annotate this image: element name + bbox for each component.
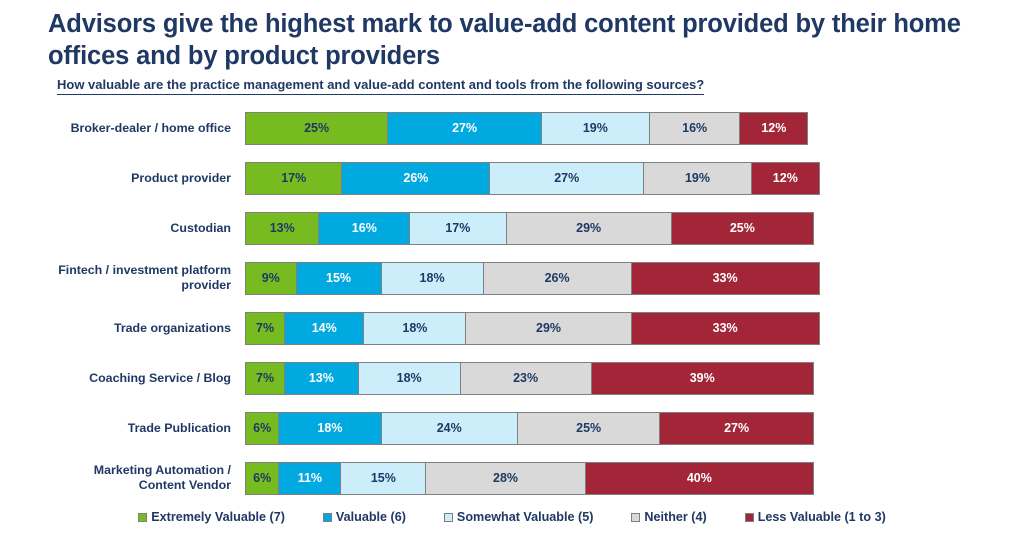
bar-segment: 24% — [381, 412, 519, 445]
legend-swatch-icon — [745, 513, 754, 522]
legend-label: Valuable (6) — [336, 510, 406, 524]
bar-segment-value: 33% — [713, 321, 738, 335]
bar-segment: 18% — [278, 412, 381, 445]
bar-segment: 18% — [381, 262, 484, 295]
bar-segment-value: 18% — [420, 271, 445, 285]
chart-row: Trade organizations7%14%18%29%33% — [0, 303, 1024, 353]
chart-plot-area: Broker-dealer / home office25%27%19%16%1… — [0, 103, 1024, 503]
bar-segment: 16% — [649, 112, 741, 145]
category-label: Trade Publication — [48, 421, 238, 436]
bar-segment: 18% — [358, 362, 461, 395]
bar-segment-value: 12% — [761, 121, 786, 135]
bar-segment-value: 39% — [690, 371, 715, 385]
bar-segment: 13% — [284, 362, 358, 395]
bar-segment-value: 29% — [576, 221, 601, 235]
chart-question-subtitle: How valuable are the practice management… — [57, 77, 704, 95]
bar-segment-value: 26% — [545, 271, 570, 285]
bar-segment: 27% — [659, 412, 814, 445]
bar-segment: 18% — [363, 312, 466, 345]
bar-segment-value: 7% — [256, 321, 274, 335]
category-label: Coaching Service / Blog — [48, 371, 238, 386]
bar-segment-value: 40% — [687, 471, 712, 485]
bar-segment-value: 29% — [536, 321, 561, 335]
bar-segment-value: 23% — [513, 371, 538, 385]
bar-segment-value: 16% — [352, 221, 377, 235]
legend-label: Neither (4) — [644, 510, 706, 524]
category-label: Fintech / investment platform provider — [48, 263, 238, 292]
bar-segment-value: 18% — [317, 421, 342, 435]
legend-swatch-icon — [631, 513, 640, 522]
subtitle-block: How valuable are the practice management… — [57, 76, 967, 95]
legend-label: Less Valuable (1 to 3) — [758, 510, 886, 524]
bar-segment-value: 25% — [576, 421, 601, 435]
bar-segment: 27% — [489, 162, 644, 195]
category-label: Trade organizations — [48, 321, 238, 336]
bar-segment-value: 33% — [713, 271, 738, 285]
stacked-bar: 7%13%18%23%39% — [245, 362, 814, 395]
bar-segment: 33% — [631, 262, 820, 295]
bar-segment: 39% — [591, 362, 814, 395]
bar-segment-value: 15% — [326, 271, 351, 285]
legend-item[interactable]: Valuable (6) — [323, 510, 406, 524]
bar-segment: 15% — [296, 262, 382, 295]
bar-segment-value: 16% — [682, 121, 707, 135]
bar-segment: 17% — [245, 162, 342, 195]
bar-segment-value: 27% — [554, 171, 579, 185]
bar-segment: 23% — [460, 362, 592, 395]
bar-segment: 29% — [465, 312, 631, 345]
bar-segment-value: 25% — [304, 121, 329, 135]
bar-segment-value: 7% — [256, 371, 274, 385]
bar-segment-value: 14% — [312, 321, 337, 335]
category-label: Custodian — [48, 221, 238, 236]
chart-row: Custodian13%16%17%29%25% — [0, 203, 1024, 253]
stacked-bar: 6%18%24%25%27% — [245, 412, 814, 445]
bar-segment-value: 12% — [773, 171, 798, 185]
legend-item[interactable]: Neither (4) — [631, 510, 706, 524]
bar-segment-value: 28% — [493, 471, 518, 485]
legend-item[interactable]: Less Valuable (1 to 3) — [745, 510, 886, 524]
bar-segment: 25% — [671, 212, 814, 245]
bar-segment: 40% — [585, 462, 814, 495]
legend-swatch-icon — [444, 513, 453, 522]
bar-segment: 13% — [245, 212, 319, 245]
bar-segment-value: 24% — [437, 421, 462, 435]
bar-segment: 19% — [541, 112, 650, 145]
bar-segment: 27% — [387, 112, 542, 145]
bar-segment: 17% — [409, 212, 506, 245]
bar-segment-value: 13% — [270, 221, 295, 235]
bar-segment-value: 25% — [730, 221, 755, 235]
chart-row: Marketing Automation / Content Vendor6%1… — [0, 453, 1024, 503]
bar-segment: 29% — [506, 212, 672, 245]
bar-segment: 6% — [245, 412, 279, 445]
bar-segment: 11% — [278, 462, 341, 495]
bar-segment-value: 6% — [253, 471, 271, 485]
chart-row: Fintech / investment platform provider9%… — [0, 253, 1024, 303]
chart-row: Broker-dealer / home office25%27%19%16%1… — [0, 103, 1024, 153]
bar-segment-value: 18% — [402, 321, 427, 335]
bar-segment: 33% — [631, 312, 820, 345]
bar-segment-value: 19% — [583, 121, 608, 135]
bar-segment: 25% — [517, 412, 660, 445]
bar-segment-value: 11% — [298, 471, 322, 485]
legend-swatch-icon — [323, 513, 332, 522]
bar-segment: 16% — [318, 212, 410, 245]
bar-segment-value: 9% — [262, 271, 280, 285]
bar-segment: 25% — [245, 112, 388, 145]
stacked-bar: 6%11%15%28%40% — [245, 462, 814, 495]
stacked-bar: 13%16%17%29%25% — [245, 212, 814, 245]
bar-segment: 15% — [340, 462, 426, 495]
bar-segment-value: 19% — [685, 171, 710, 185]
bar-segment-value: 18% — [397, 371, 422, 385]
title-block: Advisors give the highest mark to value-… — [48, 8, 978, 73]
category-label: Broker-dealer / home office — [48, 121, 238, 136]
slide-canvas: Advisors give the highest mark to value-… — [0, 0, 1024, 558]
stacked-bar: 17%26%27%19%12% — [245, 162, 820, 195]
stacked-bar: 25%27%19%16%12% — [245, 112, 808, 145]
bar-segment-value: 6% — [253, 421, 271, 435]
legend-swatch-icon — [138, 513, 147, 522]
bar-segment: 6% — [245, 462, 279, 495]
stacked-bar: 9%15%18%26%33% — [245, 262, 820, 295]
bar-segment: 7% — [245, 312, 285, 345]
chart-row: Trade Publication6%18%24%25%27% — [0, 403, 1024, 453]
bar-segment-value: 27% — [724, 421, 749, 435]
legend-label: Extremely Valuable (7) — [151, 510, 285, 524]
bar-segment-value: 27% — [452, 121, 477, 135]
bar-segment: 12% — [739, 112, 808, 145]
chart-row: Product provider17%26%27%19%12% — [0, 153, 1024, 203]
category-label: Product provider — [48, 171, 238, 186]
chart-row: Coaching Service / Blog7%13%18%23%39% — [0, 353, 1024, 403]
category-label: Marketing Automation / Content Vendor — [48, 463, 238, 492]
chart-legend: Extremely Valuable (7)Valuable (6)Somewh… — [0, 510, 1024, 524]
bar-segment: 19% — [643, 162, 752, 195]
bar-segment: 14% — [284, 312, 364, 345]
bar-segment-value: 15% — [371, 471, 396, 485]
bar-segment-value: 17% — [445, 221, 470, 235]
bar-segment: 9% — [245, 262, 297, 295]
bar-segment: 7% — [245, 362, 285, 395]
bar-segment: 26% — [341, 162, 490, 195]
bar-segment-value: 26% — [403, 171, 428, 185]
bar-segment: 28% — [425, 462, 585, 495]
page-title: Advisors give the highest mark to value-… — [48, 8, 978, 73]
stacked-bar: 7%14%18%29%33% — [245, 312, 820, 345]
legend-item[interactable]: Somewhat Valuable (5) — [444, 510, 593, 524]
bar-segment-value: 17% — [281, 171, 306, 185]
legend-item[interactable]: Extremely Valuable (7) — [138, 510, 285, 524]
bar-segment-value: 13% — [309, 371, 334, 385]
bar-segment: 12% — [751, 162, 820, 195]
bar-segment: 26% — [483, 262, 632, 295]
legend-label: Somewhat Valuable (5) — [457, 510, 593, 524]
